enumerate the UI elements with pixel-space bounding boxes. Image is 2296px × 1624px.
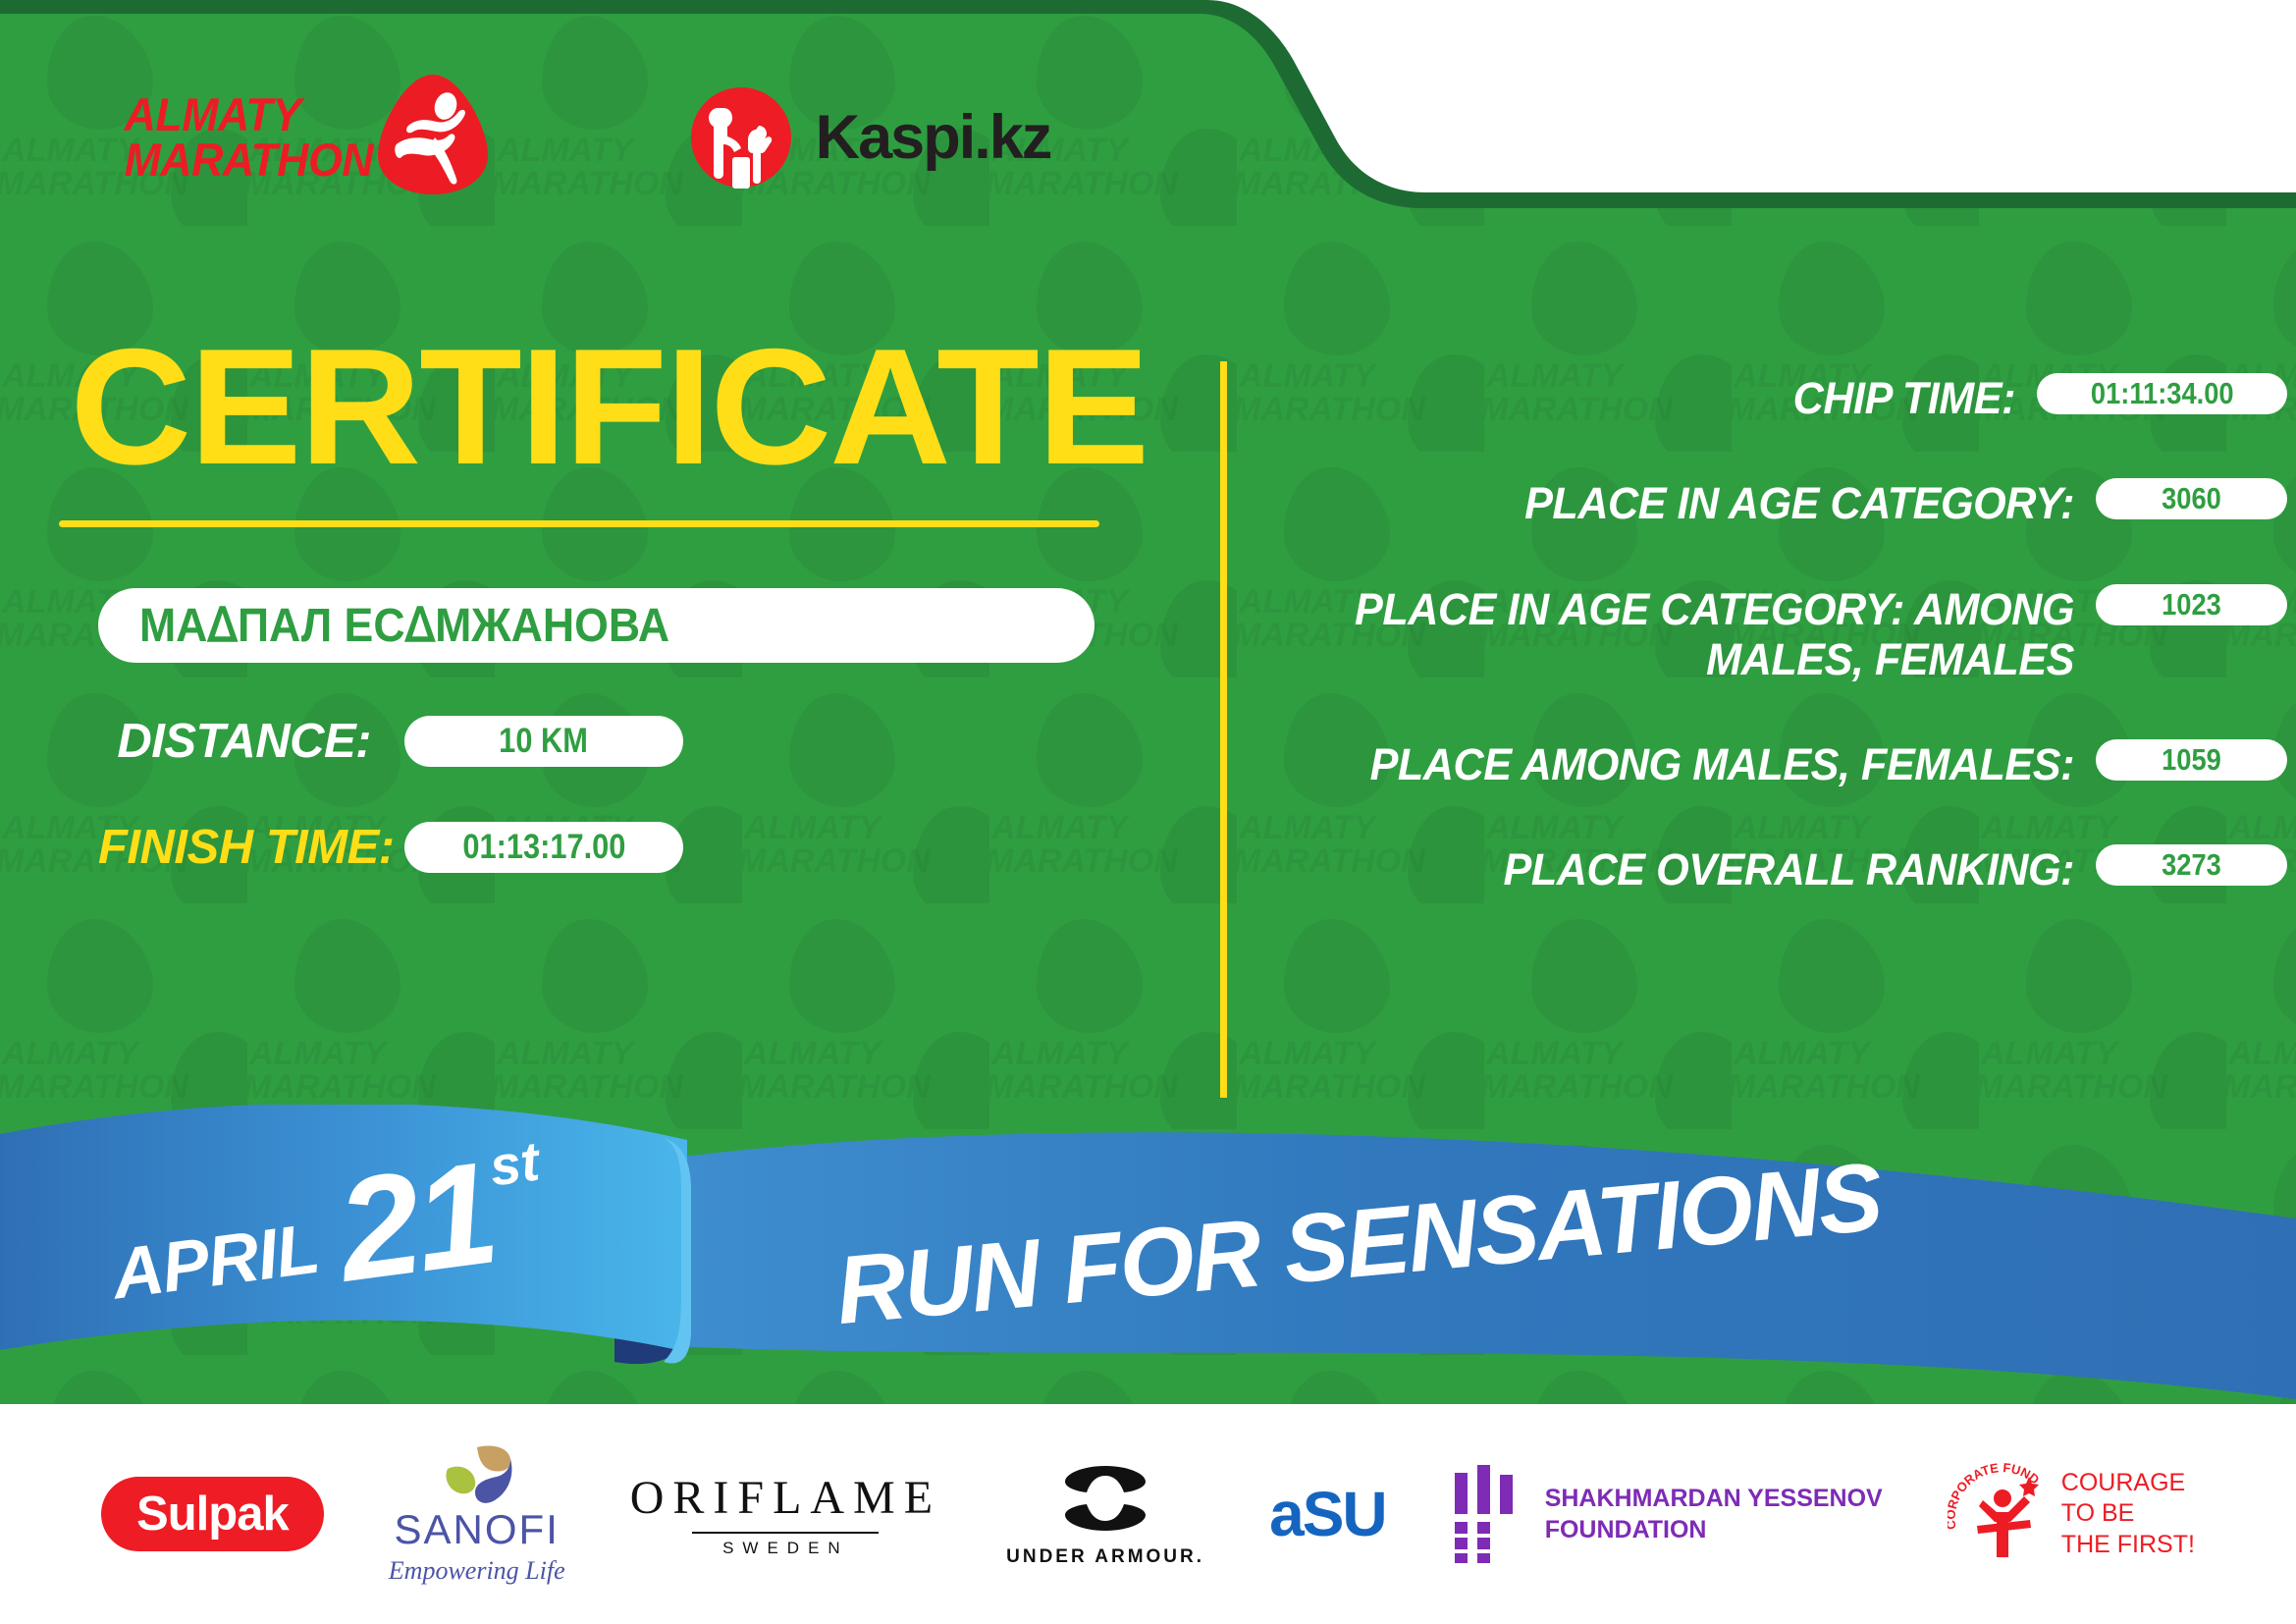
yessenov-bars-icon (1451, 1465, 1520, 1563)
results-panel: CHIP TIME: 01:11:34.00 PLACE IN AGE CATE… (1227, 373, 2287, 950)
certificate-page: ALMATY MARATHON ALMATY MAR (0, 0, 2296, 1624)
yessenov-line1: SHAKHMARDAN YESSENOV (1545, 1483, 1883, 1515)
event-day: 21 (332, 1153, 500, 1291)
sponsor-courage-to-be-the-first: CORPORATE FUND COURAGE TO BE THE FIRST! (1948, 1461, 2195, 1567)
kaspi-wordmark: Kaspi.kz (816, 102, 1051, 173)
stat-row-place-among-gender: PLACE AMONG MALES, FEMALES: 1059 (1227, 739, 2287, 789)
courage-wordmark: COURAGE TO BE THE FIRST! (2061, 1468, 2195, 1561)
page-title: CERTIFICATE (0, 324, 1232, 489)
certificate-left-panel: CERTIFICATE МАⵠПАЛ ЕСⵠМЖАНОВА DISTANCE: … (0, 324, 1207, 875)
stat-value: 1023 (2162, 587, 2221, 623)
almaty-marathon-logo: ALMATY MARATHON (118, 71, 492, 204)
stat-row-place-age-category-among-gender: PLACE IN AGE CATEGORY: AMONG MALES, FEMA… (1227, 584, 2287, 685)
sanofi-mark-icon (432, 1443, 522, 1506)
distance-value: 10 KM (500, 722, 589, 761)
oriflame-rule (692, 1532, 879, 1534)
sanofi-tagline: Empowering Life (389, 1556, 565, 1586)
yessenov-line2: FOUNDATION (1545, 1514, 1883, 1546)
almaty-marathon-runner-icon (374, 71, 492, 198)
under-armour-icon (1032, 1460, 1179, 1537)
courage-line2: TO BE (2061, 1498, 2195, 1530)
sponsor-yessenov-foundation: SHAKHMARDAN YESSENOV FOUNDATION (1451, 1465, 1883, 1563)
sponsor-sulpak: Sulpak (101, 1477, 324, 1551)
finish-time-row: FINISH TIME: 01:13:17.00 (0, 820, 1207, 875)
sponsor-asu: aSU (1269, 1478, 1386, 1550)
participant-name-field: МАⵠПАЛ ЕСⵠМЖАНОВА (98, 588, 1095, 663)
sponsor-under-armour: UNDER ARMOUR. (1006, 1460, 1204, 1568)
stat-value: 1059 (2162, 742, 2221, 778)
stat-value-pill: 1059 (2096, 739, 2287, 781)
almaty-line: ALMATY (125, 92, 373, 137)
title-underline (59, 520, 1099, 527)
stat-label: PLACE IN AGE CATEGORY: (1261, 478, 2074, 528)
under-armour-wordmark: UNDER ARMOUR. (1006, 1546, 1204, 1568)
column-divider (1220, 361, 1227, 1098)
distance-value-pill: 10 KM (404, 716, 683, 767)
event-day-ordinal: st (486, 1129, 543, 1199)
asu-wordmark: aSU (1269, 1478, 1386, 1550)
marathon-line: MARATHON (125, 137, 373, 183)
sulpak-logo: Sulpak (101, 1477, 324, 1551)
finish-time-label: FINISH TIME: (98, 820, 371, 875)
stat-row-place-overall: PLACE OVERALL RANKING: 3273 (1227, 844, 2287, 894)
sponsor-bar: Sulpak SANOFI Empowering Life ORIFLAME S… (0, 1404, 2296, 1624)
distance-label: DISTANCE: (98, 714, 371, 769)
stat-value-pill: 01:11:34.00 (2037, 373, 2287, 414)
yessenov-wordmark: SHAKHMARDAN YESSENOV FOUNDATION (1545, 1483, 1883, 1546)
stat-value-pill: 3273 (2096, 844, 2287, 886)
finish-time-value: 01:13:17.00 (462, 828, 625, 867)
stat-value: 3273 (2162, 847, 2221, 883)
participant-name-value: МАⵠПАЛ ЕСⵠМЖАНОВА (139, 598, 669, 653)
courage-line3: THE FIRST! (2061, 1530, 2195, 1561)
stat-label: PLACE AMONG MALES, FEMALES: (1261, 739, 2074, 789)
stat-row-place-age-category: PLACE IN AGE CATEGORY: 3060 (1227, 478, 2287, 528)
stat-label: PLACE IN AGE CATEGORY: AMONG MALES, FEMA… (1261, 584, 2074, 685)
stat-row-chip-time: CHIP TIME: 01:11:34.00 (1227, 373, 2287, 423)
sanofi-wordmark: SANOFI (395, 1506, 560, 1553)
oriflame-sub: SWEDEN (722, 1539, 849, 1558)
oriflame-wordmark: ORIFLAME (630, 1471, 941, 1525)
stat-value-pill: 1023 (2096, 584, 2287, 625)
kaspi-people-icon (688, 84, 794, 190)
stat-value: 3060 (2162, 481, 2221, 516)
finish-time-value-pill: 01:13:17.00 (404, 822, 683, 873)
kaspi-logo: Kaspi.kz (688, 84, 1051, 190)
sponsor-oriflame: ORIFLAME SWEDEN (630, 1471, 941, 1558)
sponsor-sanofi: SANOFI Empowering Life (389, 1443, 565, 1586)
stat-value: 01:11:34.00 (2091, 376, 2234, 411)
stat-label: CHIP TIME: (1258, 373, 2015, 423)
courage-fund-icon: CORPORATE FUND (1948, 1461, 2054, 1567)
distance-row: DISTANCE: 10 KM (0, 714, 1207, 769)
courage-line1: COURAGE (2061, 1468, 2195, 1499)
almaty-marathon-wordmark: ALMATY MARATHON (125, 92, 373, 183)
header: ALMATY MARATHON Kaspi.kz (0, 0, 1276, 275)
stat-label: PLACE OVERALL RANKING: (1261, 844, 2074, 894)
stat-value-pill: 3060 (2096, 478, 2287, 519)
